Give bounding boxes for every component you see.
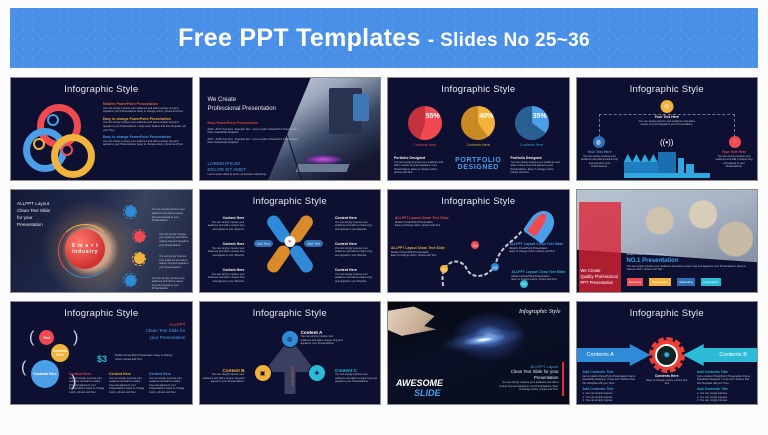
node-top-icon: ◎ — [660, 100, 673, 113]
cog-blue-icon: Contents Here — [31, 360, 59, 388]
pie-column: 40% Contents Here — [452, 106, 504, 147]
tag-button[interactable]: Infographic — [701, 278, 721, 285]
x-arm-orange — [264, 243, 292, 275]
pie-column: 55% Contents Here — [399, 106, 451, 147]
page-title: Free PPT Templates - Slides No 25~36 — [178, 24, 590, 53]
slide-thumbnail-30[interactable]: Infographic Style Add Text Add Text ♥ Co… — [199, 189, 382, 293]
slide-heading: NO.1 Presentation — [627, 257, 754, 265]
gear-yellow-icon — [134, 253, 145, 264]
label-body: You can simply impress your audience and… — [205, 247, 245, 258]
title-line: ALLPPT Layout — [17, 200, 69, 207]
right-body: You can simply impress your audience and… — [715, 155, 753, 169]
note-line: Easy to change colors, photos and Text — [510, 250, 564, 254]
slide-grid: Infographic Style Modern PowerPoint Pres… — [10, 77, 758, 405]
column-body: You can simply impress your audience and… — [69, 377, 105, 395]
ring-yellow-icon — [51, 134, 95, 178]
label-body: You can simply impress your audience and… — [335, 221, 375, 232]
portfolio-word-2: DESIGNED — [455, 164, 501, 171]
slide-title: Infographic Style — [200, 196, 381, 207]
ring-knob-icon — [33, 138, 45, 150]
panel-line: PPT Presentation — [581, 280, 621, 286]
list-item: 2017 - 2018 Your Text : Example Text : G… — [208, 138, 300, 145]
slide-title-line2: Professional Presentation — [208, 105, 300, 114]
slide-thumbnail-36[interactable]: Infographic Style Contents A Contents B … — [576, 301, 759, 405]
block-body: You can simply impress your audience and… — [103, 107, 186, 114]
column-body: Get a modern PowerPoint Presentation tha… — [583, 375, 637, 386]
pie-column: 35% Contents Here — [506, 106, 558, 147]
label-body: You can simply impress your audience and… — [335, 273, 375, 284]
wifi-icon: ((•)) — [660, 138, 673, 147]
note-heading: ALLPPT Layout Clean Text Slide — [395, 216, 451, 221]
tag-button[interactable]: Presentation — [649, 278, 671, 285]
brain-gear-icon: ✹ — [652, 340, 682, 370]
slide-title: Infographic Style — [577, 308, 758, 319]
three-rings-graphic — [23, 104, 95, 172]
template-preview-page: Free PPT Templates - Slides No 25~36 Inf… — [0, 0, 768, 435]
node-right-icon: ◌ — [729, 136, 741, 148]
node-body: You can simply impress your audience and… — [203, 373, 245, 384]
header-banner: Free PPT Templates - Slides No 25~36 — [10, 8, 758, 68]
label-body: You can simply impress your audience and… — [205, 273, 245, 284]
tag-button[interactable]: Business — [627, 278, 644, 285]
section-heading: Easy PowerPoint Presentation — [208, 121, 300, 126]
machine-shape — [353, 94, 369, 121]
note-line: Easy to change colors, photos and Text — [391, 254, 447, 258]
glow-shape — [304, 155, 342, 164]
slide-thumbnail-33[interactable]: Infographic Style ( ( ( ( Text Contents … — [10, 301, 193, 405]
slide-title: Infographic Style — [200, 308, 381, 319]
center-body: You can simply impress your audience and… — [635, 120, 699, 127]
note-heading: ALLPPT Layout Clean Text Slide — [391, 246, 447, 251]
pill-left-button[interactable]: Add Text — [254, 240, 273, 247]
column-body: Get a modern PowerPoint Presentation tha… — [697, 375, 751, 386]
note-line: Easy to change colors, photos and Text — [512, 278, 566, 282]
cog-yellow-icon: Contents Here — [51, 344, 69, 362]
pie-percent: 40% — [479, 113, 493, 120]
slide-thumbnail-34[interactable]: Infographic Style Contents Here ◍ ▣ ✚ Co… — [199, 301, 382, 405]
x-arm-blue — [288, 243, 316, 275]
column-body: You can simply impress your audience and… — [511, 161, 563, 175]
footer-note: Lorem ipsum dolor sit amet, consectetur … — [208, 173, 288, 177]
print-bed-shape — [296, 164, 350, 172]
gear-blue-icon — [125, 275, 136, 286]
factory-base — [624, 173, 710, 178]
bullet-item: 3. You can simply impress — [697, 399, 751, 403]
banner-title-main: Free PPT Templates — [178, 24, 421, 52]
slide-thumbnail-25[interactable]: Infographic Style Modern PowerPoint Pres… — [10, 77, 193, 181]
item-body: You can simply impress your audience and… — [152, 277, 188, 291]
pie-chart-blue: 35% — [515, 106, 549, 140]
item-body: You can simply impress your audience and… — [159, 255, 191, 269]
note-heading: ALLPPT Layout Clean Text Slide — [510, 242, 564, 247]
brace-left: ( — [21, 360, 26, 376]
block-body: You can simply impress your audience and… — [103, 140, 186, 147]
slide-word: SLIDE — [414, 388, 441, 398]
label-body: You can simply impress your audience and… — [205, 221, 245, 232]
shaft-label: Contents Here — [285, 366, 294, 387]
pie-caption: Contents Here — [399, 143, 451, 147]
brace-right: ( — [73, 330, 78, 346]
slide-thumbnail-28[interactable]: Infographic Style ◎ ◍ ◌ Your Text Here Y… — [576, 77, 759, 181]
subtitle-line: Clean Text Slide for — [108, 327, 186, 334]
column-body: You can simply impress your audience and… — [394, 161, 446, 175]
node-body: You can simply impress your audience and… — [335, 373, 377, 384]
script-title: Infographic Style — [519, 309, 561, 315]
note-line: Easy to change colors, photos and Text — [395, 224, 451, 228]
portfolio-word-1: PORTFOLIO — [455, 157, 501, 164]
node-content-a-icon: ◍ — [281, 330, 299, 348]
column-body: You can simply impress your audience and… — [149, 377, 185, 395]
center-heart-icon: ♥ — [284, 236, 295, 247]
ring-knob-icon — [61, 144, 73, 156]
slide-thumbnail-31[interactable]: Infographic Style 01 02 03 04 ALLPPT Lay… — [387, 189, 570, 293]
brace-left: ( — [29, 330, 34, 346]
pie-chart-red: 55% — [408, 106, 442, 140]
slide-title: Infographic Style — [11, 308, 192, 319]
column-body: You can simply impress your audience and… — [109, 377, 145, 395]
slide-title: Infographic Style — [11, 84, 192, 95]
slide-title: Infographic Style — [577, 84, 758, 95]
smart-industry-sphere: S m a r t Industry — [65, 229, 105, 269]
pie-percent: 35% — [533, 113, 547, 120]
node-left-icon: ◍ — [593, 136, 605, 148]
item-body: You can simply impress your audience and… — [159, 233, 191, 247]
banner-title-sub: - Slides No 25~36 — [428, 30, 590, 51]
gear-red-icon — [134, 231, 145, 242]
title-line: Clean Text Slide — [17, 207, 69, 214]
node-content-c-icon: ✚ — [308, 364, 326, 382]
pie-chart-row: 55% Contents Here 40% Contents Here 35% … — [388, 106, 569, 147]
node-content-b-icon: ▣ — [254, 364, 272, 382]
gear-blue-icon — [125, 206, 136, 217]
tag-button[interactable]: Marketing — [677, 278, 695, 285]
sphere-line-2: Industry — [72, 249, 98, 255]
slide-body: You can simply impress your audience and… — [497, 381, 559, 392]
node-body: You can simply impress your audience and… — [301, 335, 345, 346]
cog-red-icon: Text — [39, 330, 54, 345]
milestone-dot: 01 — [471, 241, 479, 249]
slide-thumbnail-35[interactable]: Infographic Style AWESOME SLIDE ALLPPT L… — [387, 301, 570, 405]
pie-chart-yellow: 40% — [461, 106, 495, 140]
center-note: Easy to Change Colors, photos and Text — [644, 379, 690, 386]
arrow-contents-a[interactable]: Contents A — [577, 344, 651, 366]
pie-percent: 55% — [426, 113, 440, 120]
price-note: Modern PowerPoint Presentation. Easy to … — [115, 354, 177, 361]
slide-title: Infographic Style — [388, 84, 569, 95]
factory-icon: ((•)) — [624, 140, 710, 178]
arrow-contents-b[interactable]: Contents B — [683, 344, 757, 366]
slide-thumbnail-26[interactable]: We Create Professional Presentation Easy… — [199, 77, 382, 181]
slide-thumbnail-27[interactable]: Infographic Style 55% Contents Here 40% … — [387, 77, 570, 181]
pie-caption: Contents Here — [452, 143, 504, 147]
item-body: You can simply impress your audience and… — [152, 208, 188, 222]
block-body: You can simply impress your audience and… — [103, 121, 186, 132]
bullet-item: 3. You can simply impress — [583, 399, 637, 403]
label-body: You can simply impress your audience and… — [335, 247, 375, 258]
ring-knob-icon — [47, 114, 59, 126]
pie-caption: Contents Here — [506, 143, 558, 147]
slide-title-line1: We Create — [208, 96, 300, 105]
list-item: 2016 - 2017 Your Text : Example Text : G… — [208, 128, 300, 135]
awesome-word: AWESOME — [396, 378, 443, 388]
subtitle-line: your Presentation — [108, 334, 186, 341]
note-heading: ALLPPT Layout Clean Text Slide — [512, 270, 566, 275]
title-line: Presentation — [17, 221, 69, 228]
title-line: for your — [17, 214, 69, 221]
price-figure: $3 — [97, 354, 107, 364]
pill-right-button[interactable]: Add Text — [304, 240, 323, 247]
slide-thumbnail-32[interactable]: We Create Quality Professional PPT Prese… — [576, 189, 759, 293]
gear-teeth — [649, 337, 685, 373]
slide-thumbnail-29[interactable]: ALLPPT Layout Clean Text Slide for your … — [10, 189, 193, 293]
left-body: You can simply impress your audience and… — [581, 155, 619, 169]
factory-roof — [624, 154, 658, 162]
red-accent-bar — [562, 362, 564, 396]
